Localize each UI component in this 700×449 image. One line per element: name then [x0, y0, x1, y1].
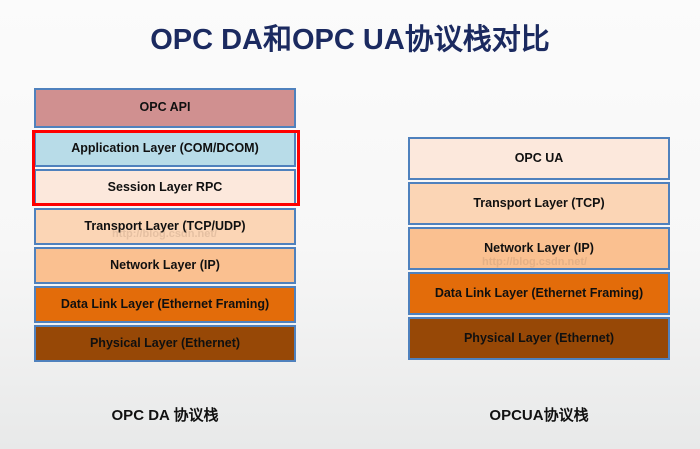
layer-label: Transport Layer (TCP) — [473, 197, 604, 211]
layer-application: Application Layer (COM/DCOM) — [34, 130, 296, 167]
layer-data-link: Data Link Layer (Ethernet Framing) — [408, 272, 670, 315]
layer-label: Transport Layer (TCP/UDP) — [84, 220, 245, 234]
layer-session: Session Layer RPC — [34, 169, 296, 206]
opc-ua-protocol-stack: OPC UA Transport Layer (TCP) Network Lay… — [408, 137, 670, 362]
layer-network: Network Layer (IP) — [408, 227, 670, 270]
layer-transport: Transport Layer (TCP/UDP) — [34, 208, 296, 245]
caption-opc-ua: OPCUA协议栈 — [408, 404, 670, 425]
layer-label: Physical Layer (Ethernet) — [464, 332, 614, 346]
layer-data-link: Data Link Layer (Ethernet Framing) — [34, 286, 296, 323]
layer-physical: Physical Layer (Ethernet) — [408, 317, 670, 360]
caption-opc-da: OPC DA 协议栈 — [34, 404, 296, 425]
layer-label: OPC API — [140, 101, 191, 115]
layer-opc-ua: OPC UA — [408, 137, 670, 180]
layer-opc-api: OPC API — [34, 88, 296, 128]
page-title: OPC DA和OPC UA协议栈对比 — [0, 16, 700, 58]
layer-label: Data Link Layer (Ethernet Framing) — [61, 298, 269, 312]
layer-label: Data Link Layer (Ethernet Framing) — [435, 287, 643, 301]
layer-label: Physical Layer (Ethernet) — [90, 337, 240, 351]
layer-label: Network Layer (IP) — [110, 259, 220, 273]
layer-label: OPC UA — [515, 152, 564, 166]
layer-label: Network Layer (IP) — [484, 242, 594, 256]
layer-network: Network Layer (IP) — [34, 247, 296, 284]
opc-da-protocol-stack: OPC API Application Layer (COM/DCOM) Ses… — [34, 88, 296, 364]
layer-physical: Physical Layer (Ethernet) — [34, 325, 296, 362]
layer-label: Session Layer RPC — [108, 181, 223, 195]
layer-transport: Transport Layer (TCP) — [408, 182, 670, 225]
layer-label: Application Layer (COM/DCOM) — [71, 142, 259, 156]
